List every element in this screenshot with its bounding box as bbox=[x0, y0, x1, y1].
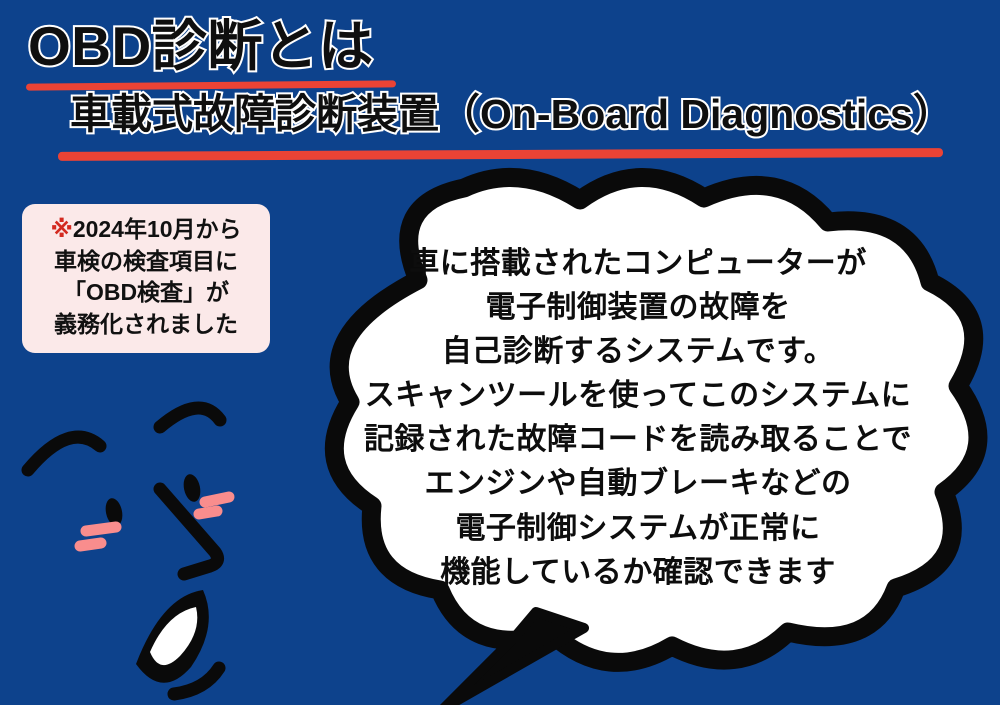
bubble-line-1: 車に搭載されたコンピューターが bbox=[332, 242, 944, 286]
page-title: OBD診断とは bbox=[28, 18, 374, 76]
bubble-line-8: 機能しているか確認できます bbox=[332, 551, 944, 595]
mouth-icon bbox=[136, 590, 209, 683]
note-line-4: 義務化されました bbox=[30, 309, 262, 341]
nose-icon bbox=[160, 489, 218, 574]
blush-right-icon bbox=[199, 497, 229, 514]
chin-line-icon bbox=[174, 668, 219, 694]
note-line-2: 車検の検査項目に bbox=[30, 246, 262, 278]
asterisk-mark-icon: ※ bbox=[50, 216, 72, 242]
eyebrow-left-icon bbox=[28, 437, 100, 470]
bubble-line-3: 自己診断するシステムです。 bbox=[332, 330, 944, 374]
note-line-3: 「OBD検査」が bbox=[30, 277, 262, 309]
page-subtitle: 車載式故障診断装置（On-Board Diagnostics） bbox=[70, 93, 954, 136]
note-line-1-text: 2024年10月から bbox=[73, 216, 242, 242]
bubble-line-2: 電子制御装置の故障を bbox=[332, 286, 944, 330]
bubble-line-6: エンジンや自動ブレーキなどの bbox=[332, 462, 944, 506]
note-line-1: ※2024年10月から bbox=[30, 214, 262, 246]
eye-right-icon bbox=[181, 473, 202, 504]
bubble-line-4: スキャンツールを使ってこのシステムに bbox=[332, 374, 944, 418]
eye-left-icon bbox=[103, 497, 124, 528]
blush-left-icon bbox=[80, 527, 116, 546]
poster-canvas: OBD診断とは 車載式故障診断装置（On-Board Diagnostics） … bbox=[0, 0, 1000, 705]
bubble-line-5: 記録された故障コードを読み取ることで bbox=[332, 418, 944, 462]
speech-bubble-text: 車に搭載されたコンピューターが 電子制御装置の故障を 自己診断するシステムです。… bbox=[332, 242, 944, 595]
note-callout-box: ※2024年10月から 車検の検査項目に 「OBD検査」が 義務化されました bbox=[22, 204, 270, 353]
title-block: OBD診断とは 車載式故障診断装置（On-Board Diagnostics） bbox=[0, 0, 1000, 175]
title-underline-1 bbox=[26, 80, 396, 90]
bubble-line-7: 電子制御システムが正常に bbox=[332, 507, 944, 551]
speech-bubble: 車に搭載されたコンピューターが 電子制御装置の故障を 自己診断するシステムです。… bbox=[268, 160, 1000, 705]
title-underline-2 bbox=[58, 148, 943, 161]
eyebrow-right-icon bbox=[160, 408, 220, 427]
